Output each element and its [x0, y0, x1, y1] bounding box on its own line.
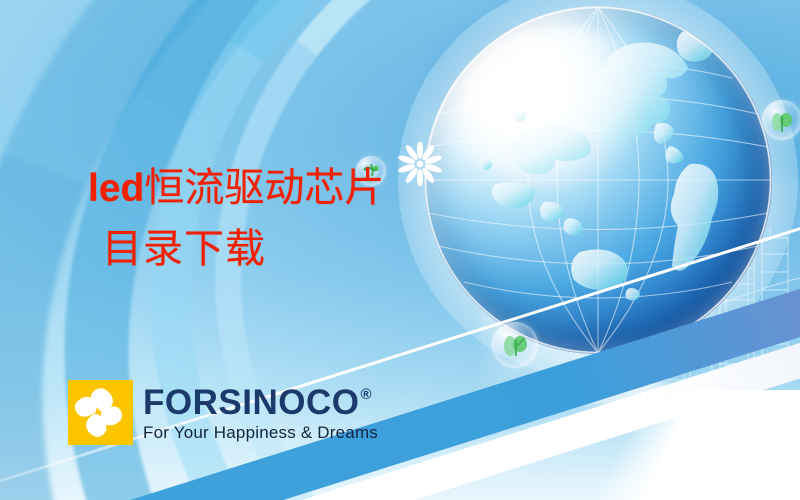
logo-wordmark: FORSINOCO ® [143, 385, 378, 420]
daisy-flower-icon [398, 142, 442, 186]
page-title: led恒流驱动芯片 目录下载 [88, 166, 384, 272]
headline-cjk-text: 恒流驱动芯片 [144, 165, 384, 210]
globe-illustration [424, 6, 772, 354]
pinwheel-flower-icon [68, 380, 133, 445]
headline-latin-text: led [88, 167, 144, 210]
bubble-leaf-icon [762, 100, 800, 140]
poster-canvas: led恒流驱动芯片 目录下载 FORSINOCO ® For Your Happ… [0, 0, 800, 500]
logo-tagline: For Your Happiness & Dreams [143, 424, 378, 441]
bottom-right-white-corner [550, 390, 800, 500]
globe-sphere [424, 6, 772, 354]
logo-text-block: FORSINOCO ® For Your Happiness & Dreams [143, 380, 378, 445]
logo-wordmark-text: FORSINOCO [143, 385, 359, 420]
company-logo: FORSINOCO ® For Your Happiness & Dreams [68, 380, 378, 445]
registered-trademark-icon: ® [360, 387, 372, 402]
headline-line-1: led恒流驱动芯片 [88, 166, 384, 211]
globe-rim-light [424, 6, 772, 354]
bubble-tree-icon [492, 322, 538, 368]
headline-line-2: 目录下载 [102, 227, 384, 272]
